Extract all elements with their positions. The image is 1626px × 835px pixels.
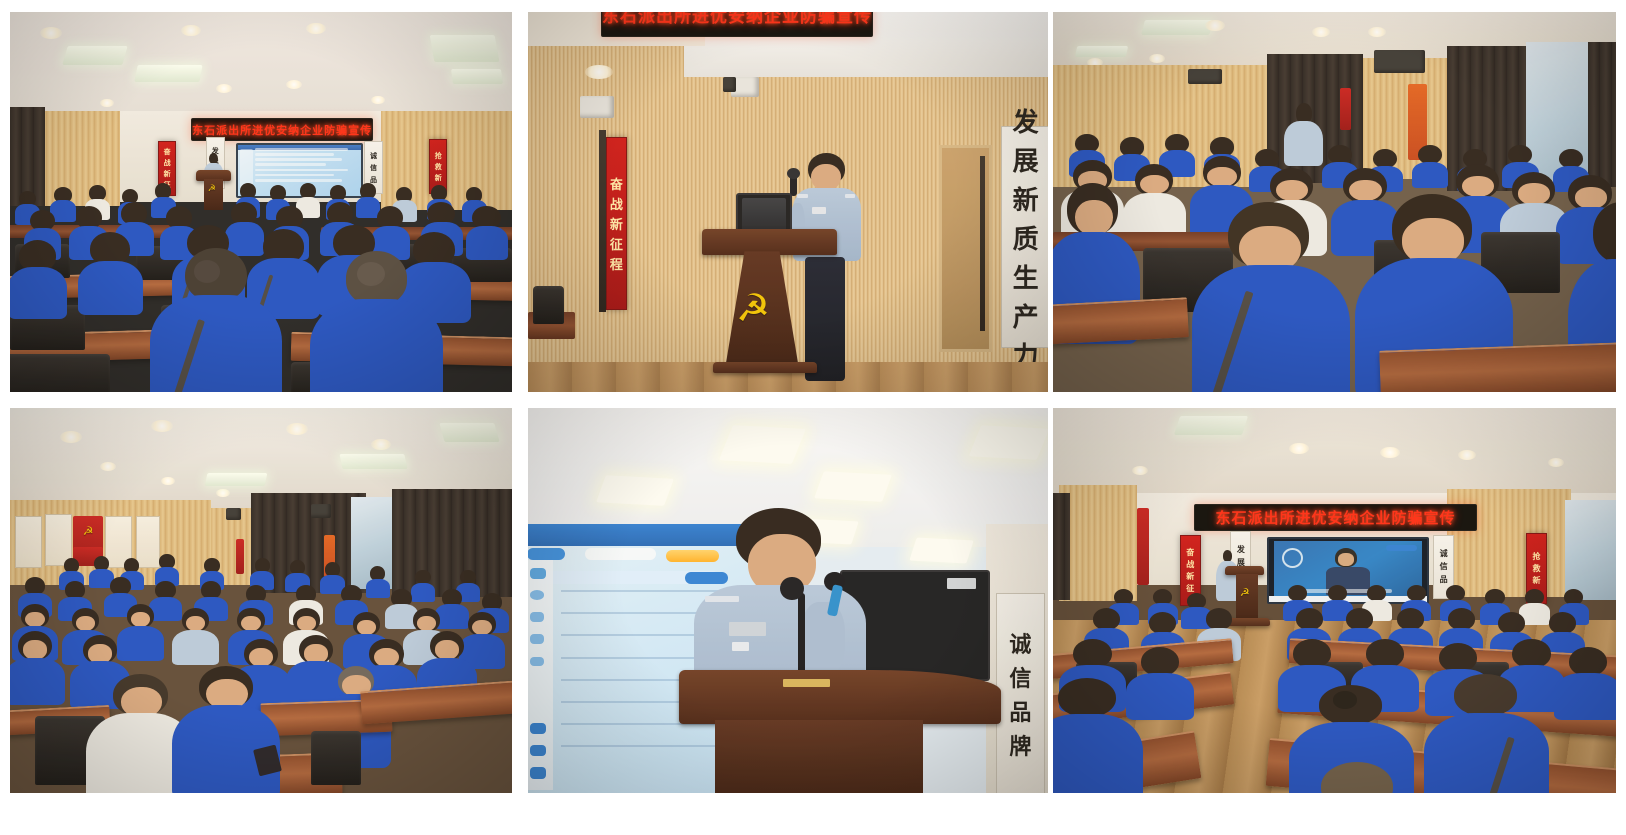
party-emblem-photo2: ☭ <box>736 289 770 327</box>
led-banner-photo2: 东石派出所进优安纳企业防骗宣传 <box>601 12 873 37</box>
photo-6-auditorium-rear-video[interactable]: 东石派出所进优安纳企业防骗宣传 奋战 新征 发展新 诚信品 <box>1053 408 1616 793</box>
led-banner-text: 东石派出所进优安纳企业防骗宣传 <box>192 122 372 138</box>
presenting-officer-photo2 <box>793 153 861 381</box>
led-banner-text-6: 东石派出所进优安纳企业防骗宣传 <box>1215 507 1455 528</box>
foreground-person-phone-photo4 <box>181 666 271 793</box>
photo-2-officer-at-podium[interactable]: 东石派出所进优安纳企业防骗宣传 奋战 新征 程 发展 新质 生产 力 <box>528 12 1048 392</box>
podium-nameplate-photo5 <box>783 679 830 687</box>
photo-1-auditorium-rear-view[interactable]: 东石派出所进优安纳企业防骗宣传 奋战 新征 发展新 诚信品 <box>10 12 512 392</box>
foreground-person-right-photo1 <box>321 251 431 392</box>
white-scroll-photo5: 诚信 品牌 <box>996 593 1045 793</box>
led-banner-text-2: 东石派出所进优安纳企业防骗宣传 <box>602 12 872 27</box>
podium-photo5 <box>679 670 1001 724</box>
foreground-person-bottom-photo6 <box>1301 762 1414 793</box>
white-scroll-photo2: 发展 新质 生产 力 <box>1001 126 1048 348</box>
photo-3-audience-closeup[interactable] <box>1053 12 1616 392</box>
podium-photo2 <box>702 229 837 256</box>
foreground-person-b-photo3 <box>1205 202 1334 392</box>
led-banner-photo6: 东石派出所进优安纳企业防骗宣传 <box>1194 504 1478 531</box>
photo-collage: 东石派出所进优安纳企业防骗宣传 奋战 新征 发展新 诚信品 <box>0 0 1626 835</box>
red-scroll-photo2: 奋战 新征 程 <box>606 137 627 310</box>
foreground-person-left-photo1 <box>161 248 271 392</box>
foreground-person-right-photo6 <box>1436 674 1537 793</box>
photo-4-auditorium-side-wide[interactable]: ☭ <box>10 408 512 793</box>
photo-5-officer-closeup-projection[interactable]: 诚信 品牌 <box>528 408 1048 793</box>
foreground-person-left-photo6 <box>1053 678 1132 794</box>
